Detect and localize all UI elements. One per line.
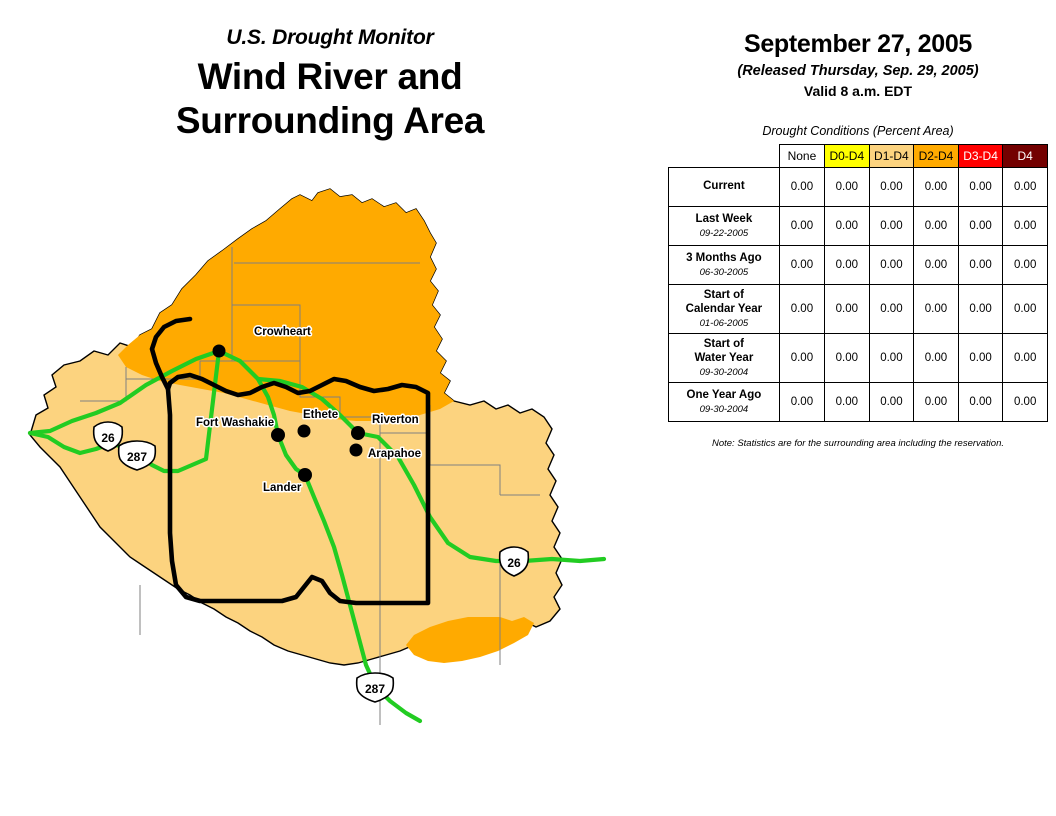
row-header-label: Current [672, 180, 776, 194]
city-label-arapahoe: Arapahoe [368, 448, 421, 460]
table-cell: 0.00 [1003, 168, 1048, 207]
row-header: Start ofCalendar Year01-06-2005 [669, 285, 780, 334]
table-cell: 0.00 [958, 382, 1003, 421]
svg-text:26: 26 [507, 556, 521, 570]
table-cell: 0.00 [825, 168, 870, 207]
valid-time: Valid 8 a.m. EDT [660, 83, 1056, 99]
table-cell: 0.00 [779, 246, 824, 285]
table-cell: 0.00 [958, 207, 1003, 246]
row-header: 3 Months Ago06-30-2005 [669, 246, 780, 285]
table-cell: 0.00 [1003, 207, 1048, 246]
table-cell: 0.00 [825, 382, 870, 421]
table-cell: 0.00 [869, 333, 914, 382]
row-header-label: Last Week [672, 213, 776, 227]
row-header-date: 01-06-2005 [672, 318, 776, 329]
city-label-lander: Lander [263, 482, 302, 494]
table-header-row: None D0-D4 D1-D4 D2-D4 D3-D4 D4 [669, 145, 1048, 168]
table-row: Start ofCalendar Year01-06-20050.000.000… [669, 285, 1048, 334]
table-cell: 0.00 [958, 333, 1003, 382]
table-cell: 0.00 [958, 246, 1003, 285]
table-row: Current0.000.000.000.000.000.00 [669, 168, 1048, 207]
table-cell: 0.00 [1003, 382, 1048, 421]
row-header: One Year Ago09-30-2004 [669, 382, 780, 421]
table-cell: 0.00 [869, 382, 914, 421]
table-row: Last Week09-22-20050.000.000.000.000.000… [669, 207, 1048, 246]
table-row: Start ofWater Year09-30-20040.000.000.00… [669, 333, 1048, 382]
table-cell: 0.00 [825, 285, 870, 334]
row-header-date: 06-30-2005 [672, 267, 776, 278]
table-cell: 0.00 [779, 168, 824, 207]
released-date: (Released Thursday, Sep. 29, 2005) [660, 63, 1056, 79]
column-header-d4: D4 [1003, 145, 1048, 168]
table-cell: 0.00 [914, 285, 959, 334]
city-label-fort-washakie: Fort Washakie [196, 417, 274, 429]
table-cell: 0.00 [779, 333, 824, 382]
table-cell: 0.00 [1003, 246, 1048, 285]
city-label-riverton: Riverton [372, 414, 419, 426]
row-header-label: Water Year [672, 352, 776, 366]
row-header: Current [669, 168, 780, 207]
row-header: Start ofWater Year09-30-2004 [669, 333, 780, 382]
city-label-ethete: Ethete [303, 409, 338, 421]
table-cell: 0.00 [869, 246, 914, 285]
table-cell: 0.00 [779, 285, 824, 334]
table-cell: 0.00 [869, 168, 914, 207]
row-header-label: 3 Months Ago [672, 252, 776, 266]
table-cell: 0.00 [1003, 333, 1048, 382]
table-cell: 0.00 [825, 246, 870, 285]
column-header-none: None [779, 145, 824, 168]
page-title-line2: Surrounding Area [0, 99, 660, 143]
row-header-date: 09-30-2004 [672, 404, 776, 415]
table-cell: 0.00 [869, 207, 914, 246]
table-cell: 0.00 [779, 382, 824, 421]
table-cell: 0.00 [914, 382, 959, 421]
row-header-date: 09-22-2005 [672, 228, 776, 239]
row-header-label: Start of [672, 289, 776, 303]
table-cell: 0.00 [779, 207, 824, 246]
row-header-label: One Year Ago [672, 389, 776, 403]
table-caption: Drought Conditions (Percent Area) [660, 124, 1056, 138]
table-cell: 0.00 [825, 333, 870, 382]
column-header-d2-d4: D2-D4 [914, 145, 959, 168]
table-cell: 0.00 [914, 246, 959, 285]
valid-date: September 27, 2005 [660, 30, 1056, 59]
table-cell: 0.00 [914, 168, 959, 207]
column-header-d1-d4: D1-D4 [869, 145, 914, 168]
city-label-crowheart: Crowheart [254, 326, 311, 338]
drought-conditions-table: None D0-D4 D1-D4 D2-D4 D3-D4 D4 Current0… [668, 144, 1048, 422]
svg-text:287: 287 [365, 682, 385, 696]
table-corner-cell [669, 145, 780, 168]
row-header-label: Start of [672, 338, 776, 352]
row-header-label: Calendar Year [672, 303, 776, 317]
title-block: U.S. Drought Monitor Wind River and Surr… [0, 26, 660, 142]
date-block: September 27, 2005 (Released Thursday, S… [660, 30, 1056, 99]
column-header-d3-d4: D3-D4 [958, 145, 1003, 168]
table-cell: 0.00 [1003, 285, 1048, 334]
drought-monitor-kicker: U.S. Drought Monitor [0, 26, 660, 49]
row-header: Last Week09-22-2005 [669, 207, 780, 246]
table-body: Current0.000.000.000.000.000.00Last Week… [669, 168, 1048, 422]
page-title: Wind River and Surrounding Area [0, 55, 660, 142]
table-cell: 0.00 [869, 285, 914, 334]
map-panel: U.S. Drought Monitor Wind River and Surr… [0, 0, 660, 816]
row-header-date: 09-30-2004 [672, 367, 776, 378]
table-note: Note: Statistics are for the surrounding… [668, 438, 1048, 449]
table-cell: 0.00 [958, 285, 1003, 334]
svg-text:26: 26 [101, 431, 115, 445]
table-cell: 0.00 [914, 333, 959, 382]
table-cell: 0.00 [825, 207, 870, 246]
table-row: One Year Ago09-30-20040.000.000.000.000.… [669, 382, 1048, 421]
table-cell: 0.00 [958, 168, 1003, 207]
table-cell: 0.00 [914, 207, 959, 246]
page-title-line1: Wind River and [0, 55, 660, 99]
column-header-d0-d4: D0-D4 [825, 145, 870, 168]
info-panel: September 27, 2005 (Released Thursday, S… [660, 0, 1056, 816]
table-row: 3 Months Ago06-30-20050.000.000.000.000.… [669, 246, 1048, 285]
svg-text:287: 287 [127, 450, 147, 464]
drought-map[interactable]: Crowheart Fort Washakie Ethete Riverton … [0, 165, 660, 765]
